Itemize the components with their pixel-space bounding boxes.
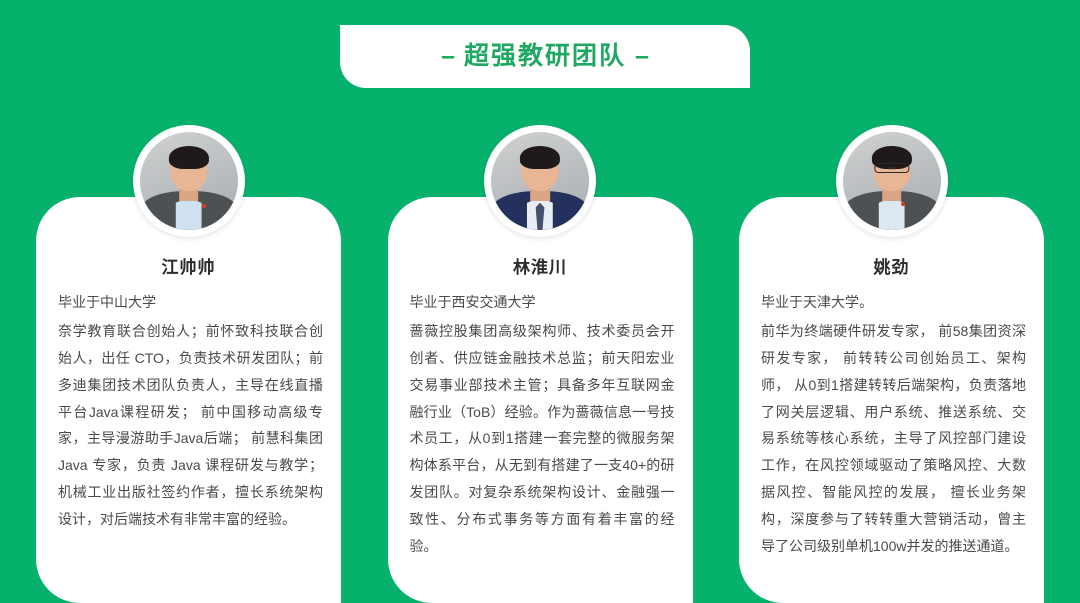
member-bio: 前华为终端硬件研发专家， 前58集团资深研发专家， 前转转公司创始员工、架构师，… [757,318,1026,560]
member-name: 姚劲 [757,253,1026,278]
section-header-banner: – 超强教研团队 – [340,25,750,88]
avatar [484,125,596,237]
avatar [836,125,948,237]
team-cards-row: 江帅帅 毕业于中山大学 奈学教育联合创始人；前怀致科技联合创始人，出任 CTO，… [0,197,1080,603]
member-school: 毕业于天津大学。 [757,289,1026,316]
team-member-card[interactable]: 江帅帅 毕业于中山大学 奈学教育联合创始人；前怀致科技联合创始人，出任 CTO，… [36,197,341,603]
team-member-card[interactable]: 姚劲 毕业于天津大学。 前华为终端硬件研发专家， 前58集团资深研发专家， 前转… [739,197,1044,603]
portrait-avatar-yao-jin [843,132,941,230]
portrait-avatar-jiang-shuaishuai [140,132,238,230]
avatar-hair [168,146,208,170]
avatar [133,125,245,237]
portrait-avatar-lin-huaichuan [491,132,589,230]
member-name: 林淮川 [406,253,675,278]
member-name: 江帅帅 [54,253,323,278]
avatar-hair [520,146,560,170]
member-school: 毕业于西安交通大学 [406,289,675,316]
member-bio: 蔷薇控股集团高级架构师、技术委员会开创者、供应链金融技术总监；前天阳宏业交易事业… [406,318,675,560]
header-dash-right: – [626,44,658,69]
avatar-shirt [175,198,201,230]
header-dash-left: – [432,44,464,69]
member-bio: 奈学教育联合创始人；前怀致科技联合创始人，出任 CTO，负责技术研发团队；前多迪… [54,318,323,533]
page-title: 超强教研团队 [464,44,626,69]
team-member-card[interactable]: 林淮川 毕业于西安交通大学 蔷薇控股集团高级架构师、技术委员会开创者、供应链金融… [388,197,693,603]
member-school: 毕业于中山大学 [54,289,323,316]
avatar-glasses [874,163,909,173]
